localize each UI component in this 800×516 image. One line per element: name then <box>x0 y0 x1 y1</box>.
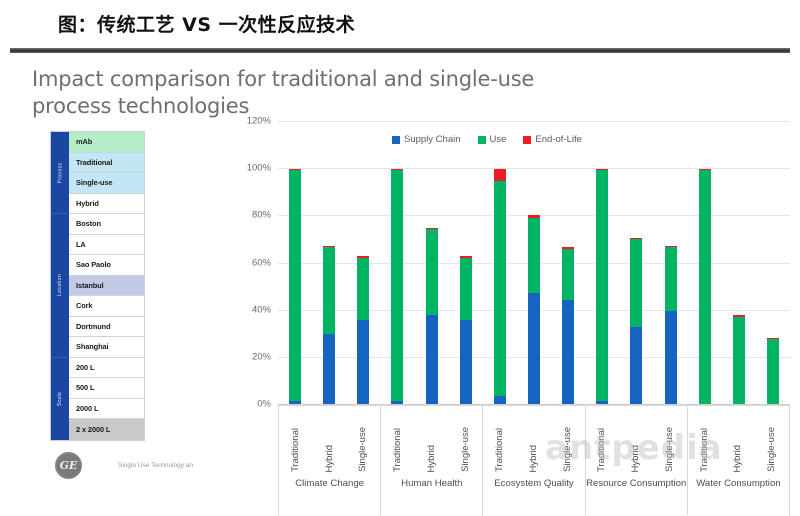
x-axis-tick: Single-use <box>766 427 778 472</box>
bar-series-area <box>278 122 790 405</box>
parameter-row: Traditional <box>69 153 144 174</box>
y-axis-tick: 0% <box>257 399 271 410</box>
parameter-row: Sao Paolo <box>69 255 144 276</box>
parameter-group-label: Scale <box>57 391 63 405</box>
bar-group <box>278 122 380 405</box>
parameter-row: 2000 L <box>69 399 144 420</box>
stacked-bar[interactable] <box>460 122 472 405</box>
parameter-row: Istanbul <box>69 276 144 297</box>
x-axis-tick: Single-use <box>562 427 574 472</box>
stacked-bar[interactable] <box>665 122 677 405</box>
parameter-group-column: ProcessLocationScale <box>51 132 69 440</box>
x-axis-group: TraditionalHybridSingle-useResource Cons… <box>586 406 688 515</box>
segment-use <box>733 317 745 405</box>
segment-use <box>630 239 642 327</box>
x-axis-tick: Single-use <box>357 427 369 472</box>
segment-end-of-life <box>494 169 506 181</box>
segment-use <box>528 218 540 293</box>
bar-group <box>688 122 790 405</box>
title-divider <box>10 48 790 53</box>
stacked-bar[interactable] <box>494 122 506 405</box>
x-axis-tick: Single-use <box>664 427 676 472</box>
parameter-row: Boston <box>69 214 144 235</box>
x-axis-tick: Traditional <box>494 428 506 472</box>
parameter-row: LA <box>69 235 144 256</box>
bar-group <box>380 122 482 405</box>
segment-supply-chain <box>630 327 642 405</box>
segment-use <box>767 339 779 405</box>
x-axis-tick-row: TraditionalHybridSingle-use <box>483 406 584 472</box>
x-axis-tick-row: TraditionalHybridSingle-use <box>279 406 380 472</box>
page-title: 图：传统工艺 VS 一次性反应技术 <box>58 10 355 37</box>
parameter-row: 500 L <box>69 378 144 399</box>
segment-use <box>562 249 574 300</box>
stacked-bar[interactable] <box>767 122 779 405</box>
y-axis-tick: 40% <box>252 304 271 315</box>
x-axis-group-label: Water Consumption <box>688 478 789 490</box>
footer: GE Single Use Technology an <box>55 452 193 479</box>
segment-use <box>426 229 438 315</box>
x-axis-tick-row: TraditionalHybridSingle-use <box>688 406 789 472</box>
x-axis-tick: Hybrid <box>630 445 642 472</box>
stacked-bar[interactable] <box>562 122 574 405</box>
stacked-bar[interactable] <box>289 122 301 405</box>
parameter-row: Cork <box>69 296 144 317</box>
segment-use <box>460 258 472 320</box>
segment-use <box>289 170 301 401</box>
parameter-row: 2 x 2000 L <box>69 419 144 440</box>
x-axis-group-label: Climate Change <box>279 478 380 490</box>
x-axis-tick: Hybrid <box>732 445 744 472</box>
x-axis-group: TraditionalHybridSingle-useHuman Health <box>381 406 483 515</box>
segment-supply-chain <box>460 320 472 405</box>
segment-use <box>357 258 369 320</box>
parameter-table: ProcessLocationScale mAbTraditionalSingl… <box>50 131 145 441</box>
segment-use <box>699 170 711 405</box>
x-axis-labels: TraditionalHybridSingle-useClimate Chang… <box>278 405 790 515</box>
plot-area: 0%20%40%60%80%100%120% <box>278 122 790 405</box>
x-axis-group-label: Ecosystem Quality <box>483 478 584 490</box>
parameter-row: 200 L <box>69 358 144 379</box>
stacked-bar[interactable] <box>391 122 403 405</box>
x-axis-tick: Traditional <box>596 428 608 472</box>
stacked-bar[interactable] <box>630 122 642 405</box>
segment-use <box>323 247 335 334</box>
bar-group <box>483 122 585 405</box>
x-axis-group-label: Human Health <box>381 478 482 490</box>
parameter-row: mAb <box>69 132 144 153</box>
parameter-row: Dortmund <box>69 317 144 338</box>
y-axis-tick: 20% <box>252 351 271 362</box>
footer-caption: Single Use Technology an <box>118 462 193 469</box>
segment-supply-chain <box>426 315 438 405</box>
stacked-bar[interactable] <box>528 122 540 405</box>
parameter-row: Single-use <box>69 173 144 194</box>
y-axis-tick: 60% <box>252 257 271 268</box>
parameter-group-scale: Scale <box>51 358 69 440</box>
stacked-bar[interactable] <box>357 122 369 405</box>
parameter-group-location: Location <box>51 214 69 358</box>
x-axis-tick-row: TraditionalHybridSingle-use <box>381 406 482 472</box>
x-axis-group-label: Resource Consumption <box>586 478 687 490</box>
stacked-bar[interactable] <box>323 122 335 405</box>
parameter-row-column: mAbTraditionalSingle-useHybridBostonLASa… <box>69 132 144 440</box>
segment-use <box>494 181 506 396</box>
y-axis-tick: 100% <box>247 163 271 174</box>
stacked-bar[interactable] <box>596 122 608 405</box>
stacked-bar[interactable] <box>426 122 438 405</box>
x-axis-tick: Traditional <box>392 428 404 472</box>
x-axis-tick: Traditional <box>290 428 302 472</box>
x-axis-tick: Hybrid <box>324 445 336 472</box>
stacked-bar[interactable] <box>699 122 711 405</box>
parameter-group-label: Process <box>57 162 63 183</box>
x-axis-tick: Traditional <box>699 428 711 472</box>
parameter-group-process: Process <box>51 132 69 214</box>
x-axis-group: TraditionalHybridSingle-useEcosystem Qua… <box>483 406 585 515</box>
x-axis-tick-row: TraditionalHybridSingle-use <box>586 406 687 472</box>
parameter-row: Shanghai <box>69 337 144 358</box>
y-axis-tick: 120% <box>247 116 271 127</box>
bar-group <box>585 122 687 405</box>
x-axis-tick: Single-use <box>460 427 472 472</box>
segment-use <box>596 170 608 401</box>
y-axis-tick: 80% <box>252 210 271 221</box>
x-axis-group: TraditionalHybridSingle-useClimate Chang… <box>278 406 381 515</box>
ge-logo-icon: GE <box>55 452 82 479</box>
parameter-row: Hybrid <box>69 194 144 215</box>
x-axis-group: TraditionalHybridSingle-useWater Consump… <box>688 406 790 515</box>
parameter-group-label: Location <box>57 274 63 296</box>
chart-container: Supply ChainUseEnd-of-Life 0%20%40%60%80… <box>212 112 797 512</box>
segment-use <box>665 247 677 311</box>
x-axis-tick: Hybrid <box>528 445 540 472</box>
segment-supply-chain <box>323 334 335 405</box>
segment-supply-chain <box>357 320 369 405</box>
segment-use <box>391 170 403 401</box>
segment-supply-chain <box>665 311 677 405</box>
segment-supply-chain <box>528 293 540 405</box>
x-axis-tick: Hybrid <box>426 445 438 472</box>
segment-supply-chain <box>562 300 574 405</box>
stacked-bar[interactable] <box>733 122 745 405</box>
